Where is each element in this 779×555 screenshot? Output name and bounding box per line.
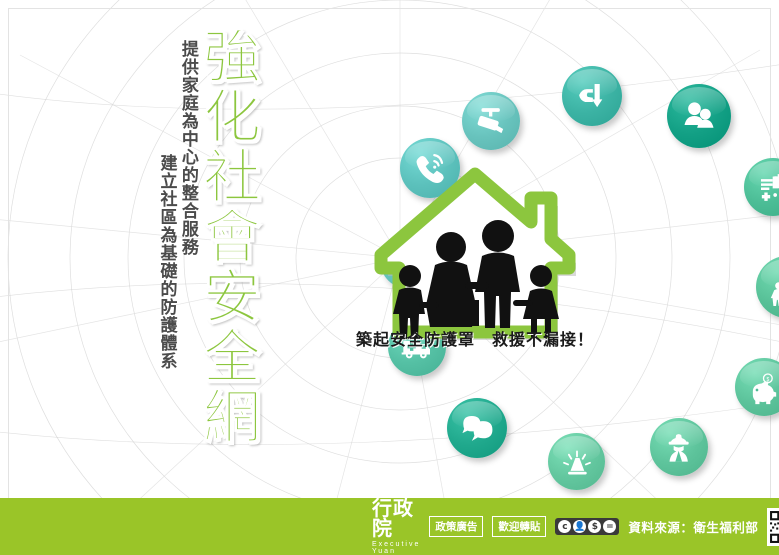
cc-mark-nd: =	[603, 520, 616, 533]
mother-and-child-icon[interactable]	[756, 256, 779, 318]
tagline-text: 築起安全防護罩 救援不漏接！	[330, 326, 620, 350]
speech-bubbles-icon[interactable]	[447, 398, 507, 458]
stop-violence-hand-icon[interactable]	[562, 66, 622, 126]
logo-english: Executive Yuan	[372, 541, 420, 555]
poster-canvas: 強化社會安全網 提供家庭為中心的整合服務 建立社區為基礎的防護體系 $	[0, 0, 779, 555]
subtitle-line-2: 建立社區為基礎的防護體系	[157, 26, 175, 370]
qr-code-icon[interactable]	[767, 508, 779, 546]
footer-bar: 行政院 Executive Yuan 政策廣告 歡迎轉貼 c 👤 $ = 資料來…	[0, 498, 779, 555]
data-source-text: 資料來源：衛生福利部	[628, 517, 758, 536]
cc-mark-nc: $	[588, 520, 601, 533]
cc-mark-cc: c	[558, 520, 571, 533]
medical-care-icon[interactable]	[744, 158, 779, 216]
logo-chinese: 行政院	[372, 498, 420, 538]
alarm-siren-icon[interactable]	[548, 433, 605, 490]
police-officer-icon[interactable]	[650, 418, 708, 476]
policy-ad-badge: 政策廣告	[429, 516, 483, 537]
share-welcome-badge: 歡迎轉貼	[492, 516, 546, 537]
surveillance-camera-icon[interactable]	[462, 92, 520, 150]
executive-yuan-logo: 行政院 Executive Yuan	[372, 498, 420, 555]
community-people-icon[interactable]	[667, 84, 731, 148]
piggy-bank-icon[interactable]: $	[735, 358, 779, 416]
page-title: 強化社會安全網	[197, 26, 256, 476]
creative-commons-badge: c 👤 $ =	[555, 518, 619, 535]
house-with-family-icon	[355, 160, 595, 345]
cc-mark-by: 👤	[573, 520, 586, 533]
title-block: 強化社會安全網 提供家庭為中心的整合服務 建立社區為基礎的防護體系	[78, 26, 258, 486]
